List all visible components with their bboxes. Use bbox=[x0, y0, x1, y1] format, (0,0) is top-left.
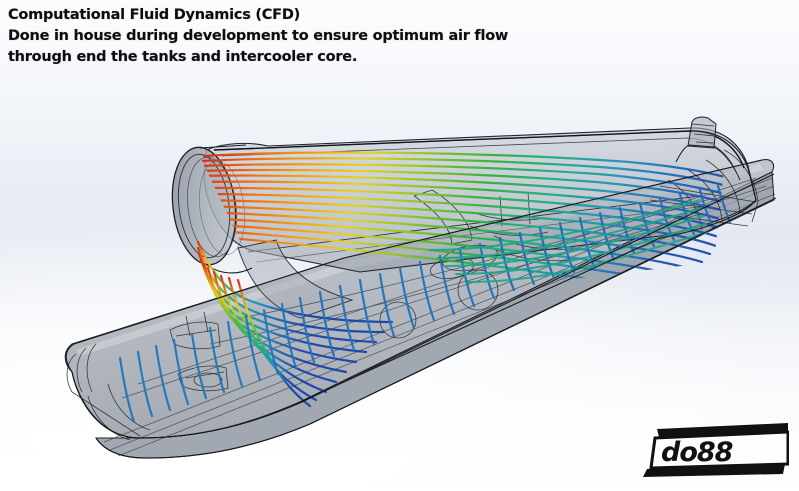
cfd-render-canvas: Computational Fluid Dynamics (CFD) Done … bbox=[0, 0, 799, 491]
logo-wordmark: do88 bbox=[661, 437, 733, 468]
intercooler-body bbox=[65, 117, 775, 458]
do88-logo: do88 bbox=[639, 422, 789, 483]
do88-logo-mark: do88 bbox=[639, 422, 789, 478]
caption-line-3: through end the tanks and intercooler co… bbox=[8, 47, 508, 68]
caption-line-1: Computational Fluid Dynamics (CFD) bbox=[8, 5, 508, 26]
cfd-model-viewport bbox=[0, 0, 799, 491]
caption-line-2: Done in house during development to ensu… bbox=[8, 26, 508, 47]
caption-block: Computational Fluid Dynamics (CFD) Done … bbox=[8, 5, 508, 68]
